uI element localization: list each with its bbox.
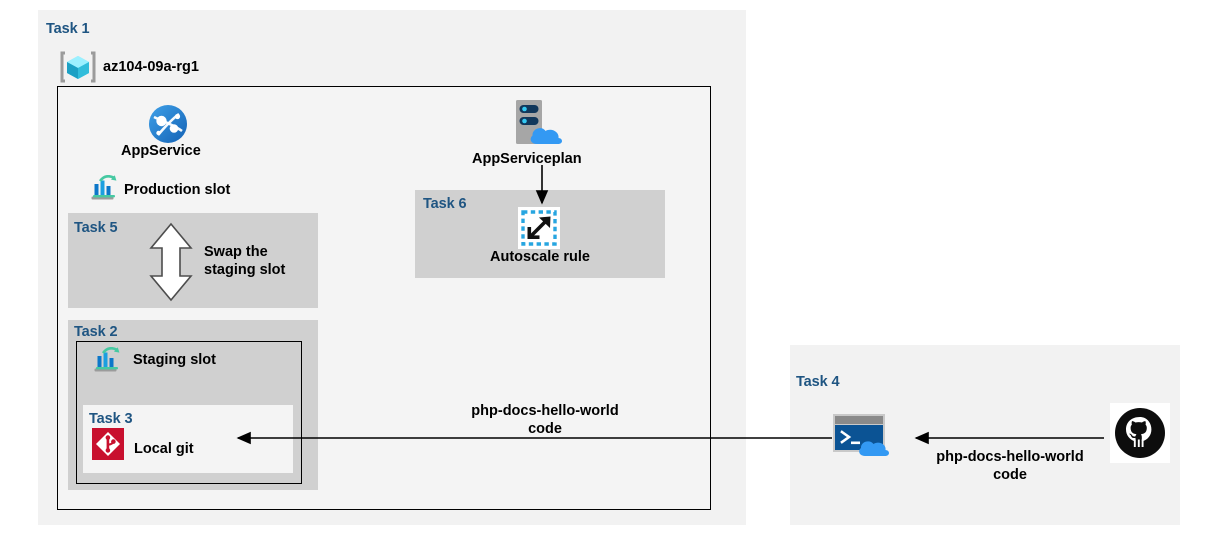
code-flow-label: php-docs-hello-world code bbox=[455, 402, 635, 438]
app-service-icon bbox=[148, 104, 188, 144]
task5-label: Task 5 bbox=[74, 220, 117, 236]
task2-label: Task 2 bbox=[74, 324, 117, 340]
cloud-shell-icon bbox=[832, 412, 900, 460]
diagram-canvas: Task 1 az104-09a-rg1 bbox=[0, 0, 1218, 545]
task1-label: Task 1 bbox=[46, 21, 89, 37]
appserviceplan-label: AppServiceplan bbox=[472, 150, 582, 168]
autoscale-rule-label: Autoscale rule bbox=[490, 248, 590, 266]
production-slot-label: Production slot bbox=[124, 181, 230, 199]
swap-up-down-arrow-icon bbox=[147, 222, 195, 302]
app-service-plan-icon bbox=[510, 98, 568, 148]
appservice-label: AppService bbox=[121, 142, 201, 160]
deployment-slot-icon-production bbox=[90, 175, 118, 201]
staging-slot-label: Staging slot bbox=[133, 351, 216, 369]
autoscale-icon bbox=[518, 207, 560, 249]
task6-label: Task 6 bbox=[423, 196, 466, 212]
git-icon bbox=[92, 428, 124, 460]
deployment-slot-icon-staging bbox=[93, 347, 121, 373]
resource-group-icon bbox=[60, 50, 96, 84]
github-icon bbox=[1110, 403, 1170, 463]
resource-group-name: az104-09a-rg1 bbox=[103, 58, 199, 76]
task5-text: Swap the staging slot bbox=[204, 243, 316, 279]
task4-edge-label: php-docs-hello-world code bbox=[920, 448, 1100, 484]
local-git-label: Local git bbox=[134, 440, 194, 458]
task4-label: Task 4 bbox=[796, 374, 839, 390]
task3-label: Task 3 bbox=[89, 411, 132, 427]
